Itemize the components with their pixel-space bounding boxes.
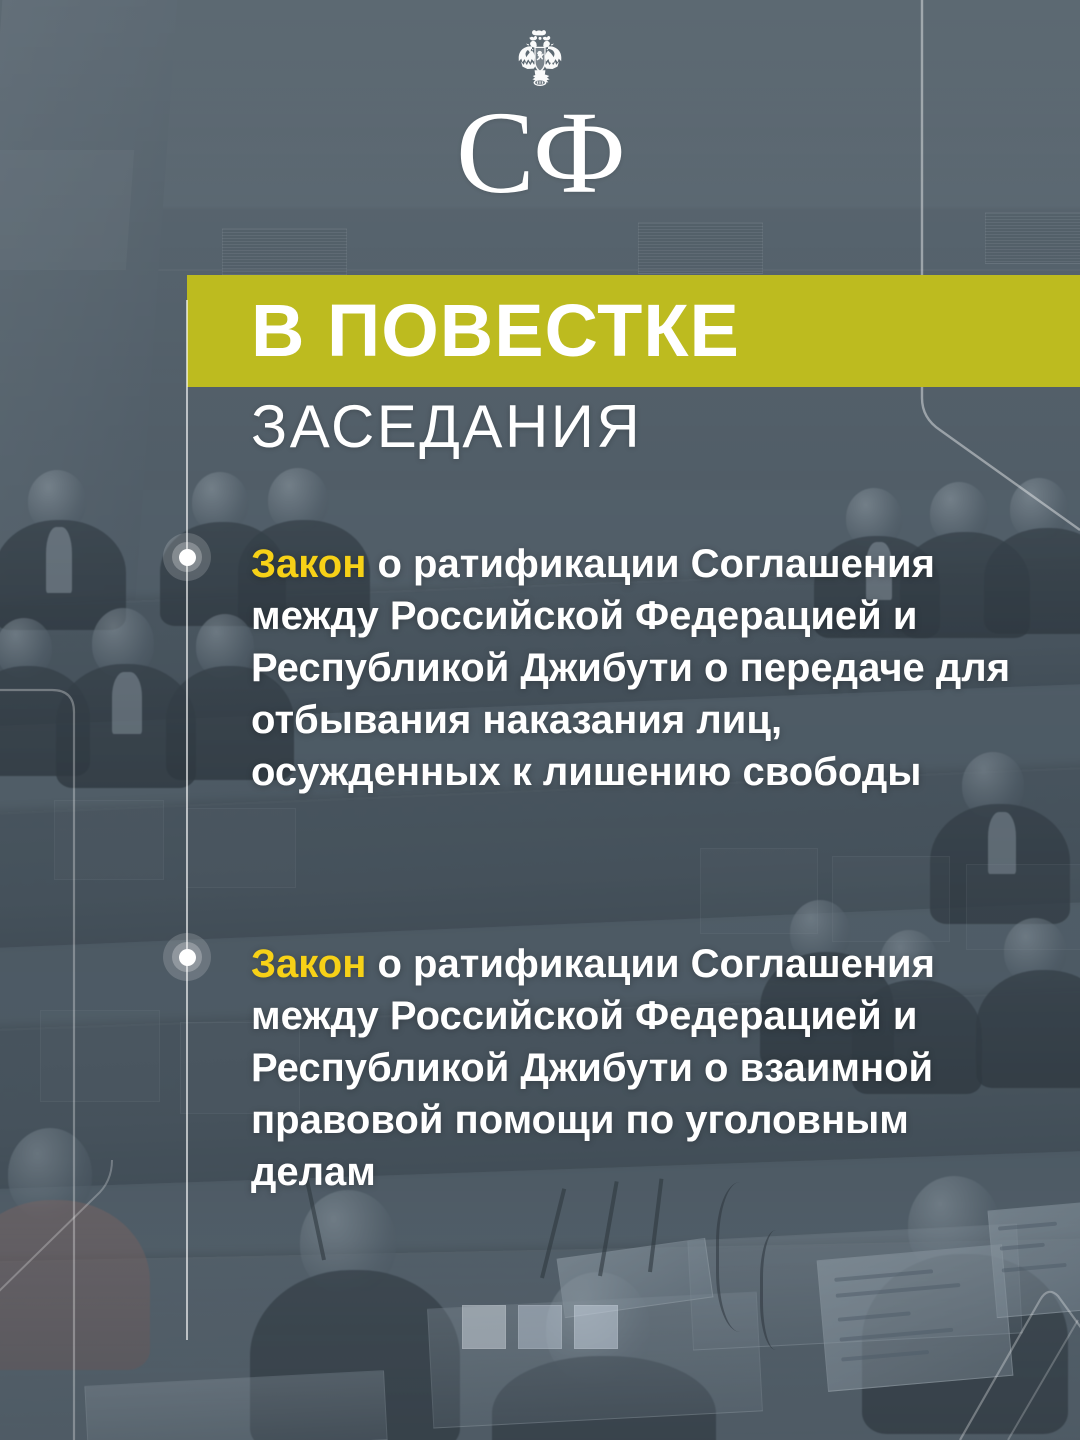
agenda-item-keyword: Закон bbox=[251, 942, 366, 986]
slide-thumbnail-strip[interactable] bbox=[0, 1305, 1080, 1349]
poster-card: СФ В ПОВЕСТКЕ ЗАСЕДАНИЯ Закон о ратифика… bbox=[0, 0, 1080, 1440]
agenda-timeline-rail bbox=[186, 300, 188, 1340]
agenda-item: Закон о ратификации Соглашения между Рос… bbox=[251, 538, 1011, 798]
slide-thumbnail[interactable] bbox=[574, 1305, 618, 1349]
agenda-item-keyword: Закон bbox=[251, 542, 366, 586]
agenda-bullet-marker bbox=[163, 533, 211, 581]
slide-thumbnail[interactable] bbox=[518, 1305, 562, 1349]
agenda-bullet-marker bbox=[163, 933, 211, 981]
slide-thumbnail[interactable] bbox=[462, 1305, 506, 1349]
agenda-list: Закон о ратификации Соглашения между Рос… bbox=[0, 0, 1080, 1440]
agenda-item: Закон о ратификации Соглашения между Рос… bbox=[251, 938, 1011, 1198]
